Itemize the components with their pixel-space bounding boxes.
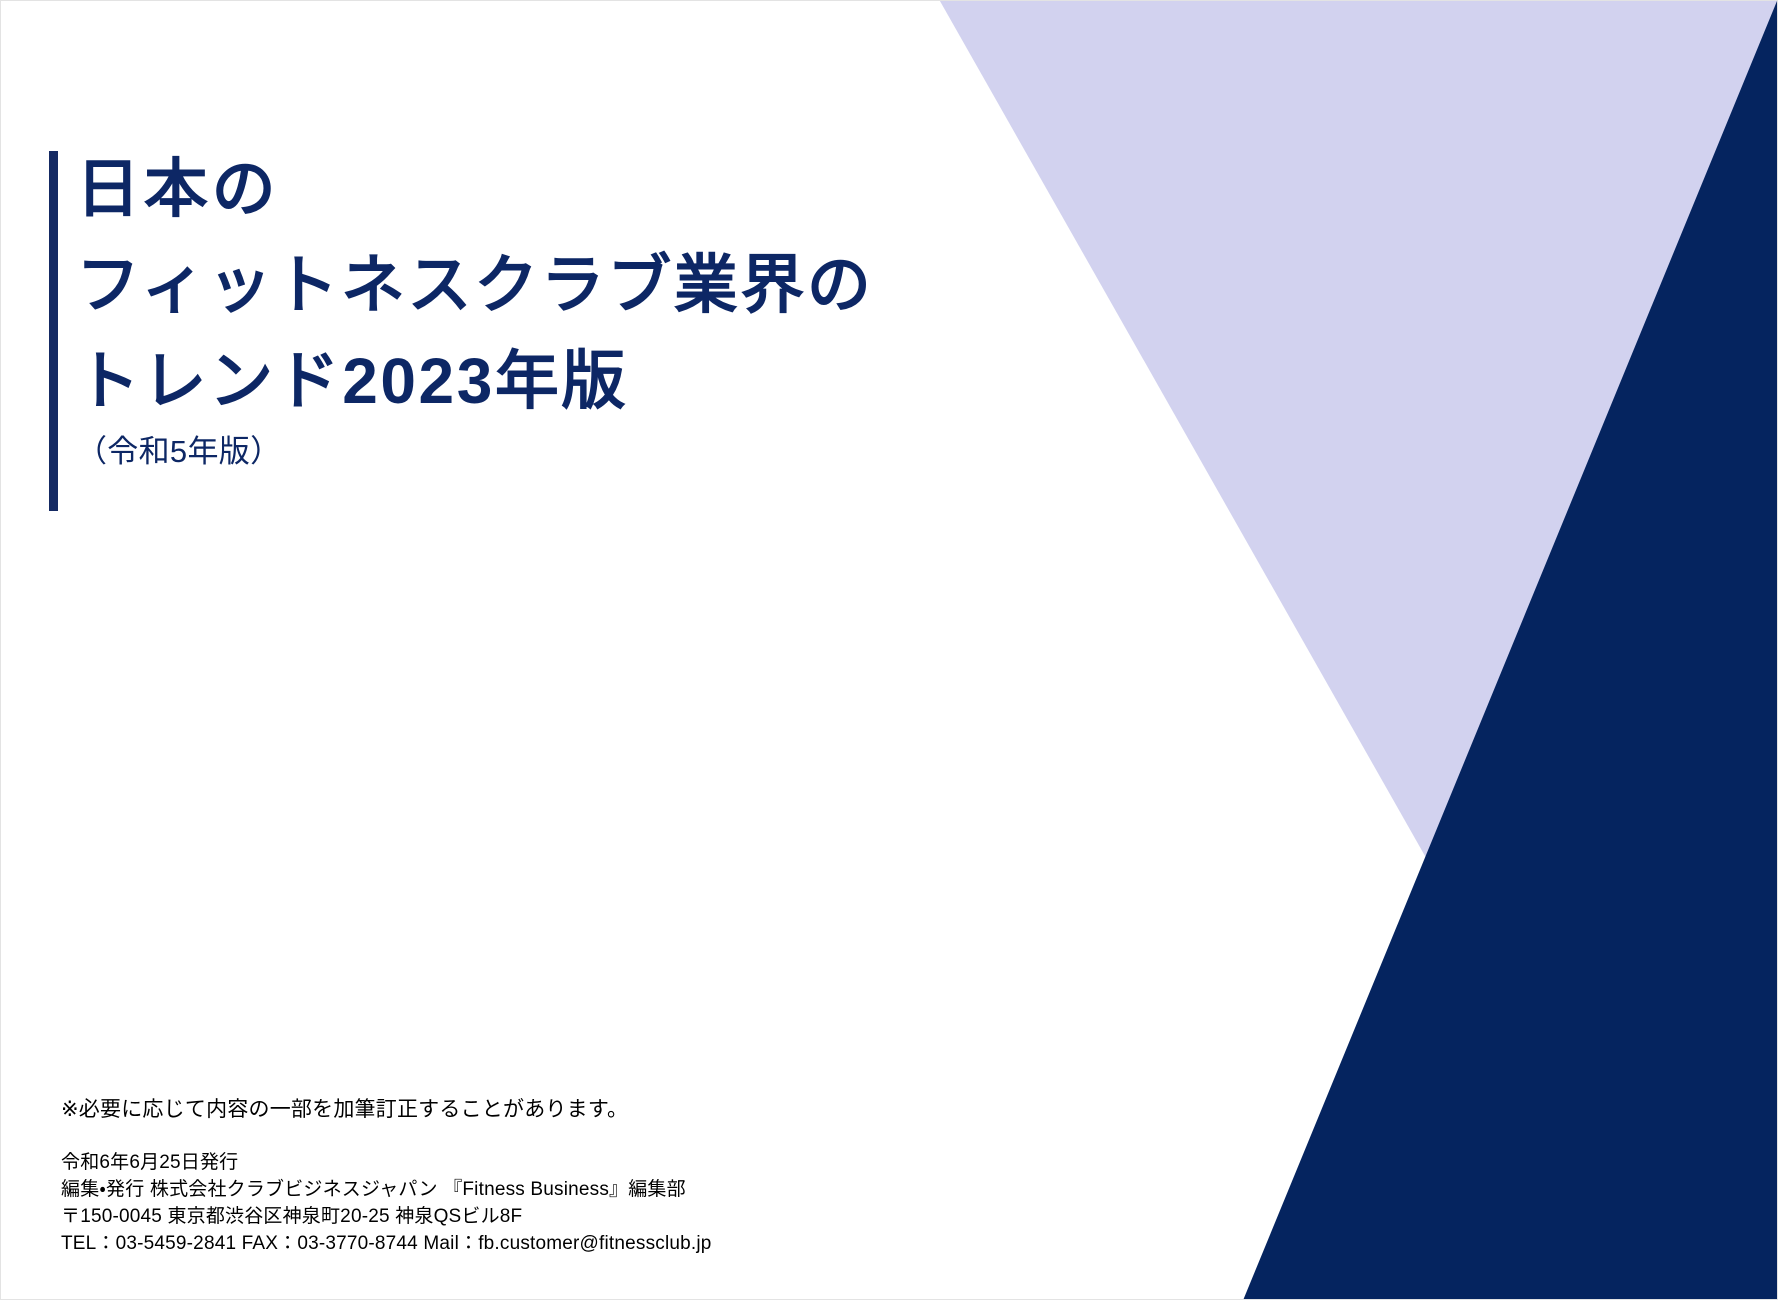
imprint-publisher: 編集・発行 株式会社クラブビジネスジャパン 『Fitness Business』… bbox=[61, 1176, 712, 1203]
revision-note: ※必要に応じて内容の一部を加筆訂正することがあります。 bbox=[61, 1095, 712, 1125]
cover-page: 日本の フィットネスクラブ業界の トレンド2023年版 （令和5年版） ※必要に… bbox=[0, 0, 1778, 1300]
imprint-publication-date: 令和6年6月25日発行 bbox=[61, 1149, 712, 1176]
dark-navy-shape bbox=[1244, 1, 1777, 1299]
imprint-contact: TEL：03-5459-2841 FAX：03-3770-8744 Mail：f… bbox=[61, 1230, 712, 1257]
page-subtitle: （令和5年版） bbox=[76, 431, 1076, 473]
title-block: 日本の フィットネスクラブ業界の トレンド2023年版 （令和5年版） bbox=[76, 141, 1076, 473]
footer-block: ※必要に応じて内容の一部を加筆訂正することがあります。 令和6年6月25日発行 … bbox=[61, 1095, 712, 1257]
title-accent-bar bbox=[49, 151, 58, 511]
imprint-address: 〒150-0045 東京都渋谷区神泉町20-25 神泉QSビル8F bbox=[61, 1203, 712, 1230]
page-title-line-1: 日本の bbox=[76, 141, 1076, 237]
page-title-line-3: トレンド2023年版 bbox=[76, 333, 1076, 429]
page-title-line-2: フィットネスクラブ業界の bbox=[76, 237, 1076, 333]
